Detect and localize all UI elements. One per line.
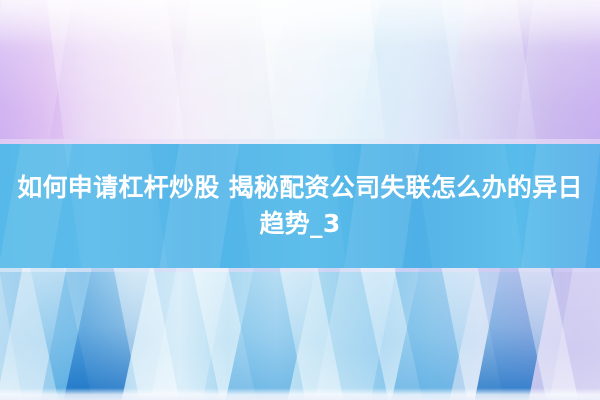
top-gradient-panel <box>0 0 600 144</box>
banner-title-line-1: 如何申请杠杆炒股 揭秘配资公司失联怎么办的异日 <box>17 170 583 206</box>
prism-wedge-5 <box>109 268 188 400</box>
prism-wedge-11 <box>355 268 432 400</box>
prism-wedge-14 <box>467 268 560 400</box>
prism-wedge-2 <box>0 268 71 400</box>
banner-title-line-2: 趋势_3 <box>259 206 340 242</box>
prism-wedge-7 <box>187 268 266 400</box>
prism-wedge-13 <box>437 268 512 400</box>
bottom-seam-divider <box>0 268 600 272</box>
prism-wedge-1 <box>0 268 30 400</box>
banner-image: 如何申请杠杆炒股 揭秘配资公司失联怎么办的异日 趋势_3 <box>0 0 600 400</box>
prism-wedge-6 <box>143 268 234 400</box>
prism-wedge-15 <box>513 268 588 400</box>
banner-title: 如何申请杠杆炒股 揭秘配资公司失联怎么办的异日 趋势_3 <box>0 144 600 268</box>
title-band: 如何申请杠杆炒股 揭秘配资公司失联怎么办的异日 趋势_3 <box>0 144 600 268</box>
bottom-prism-panel <box>0 268 600 400</box>
prism-wedge-3 <box>25 268 102 400</box>
watermark-text <box>255 381 345 397</box>
top-highlight-overlay <box>0 0 600 46</box>
prism-wedge-16 <box>542 268 600 400</box>
prism-wedge-12 <box>383 268 484 400</box>
prism-wedge-4 <box>55 268 156 400</box>
